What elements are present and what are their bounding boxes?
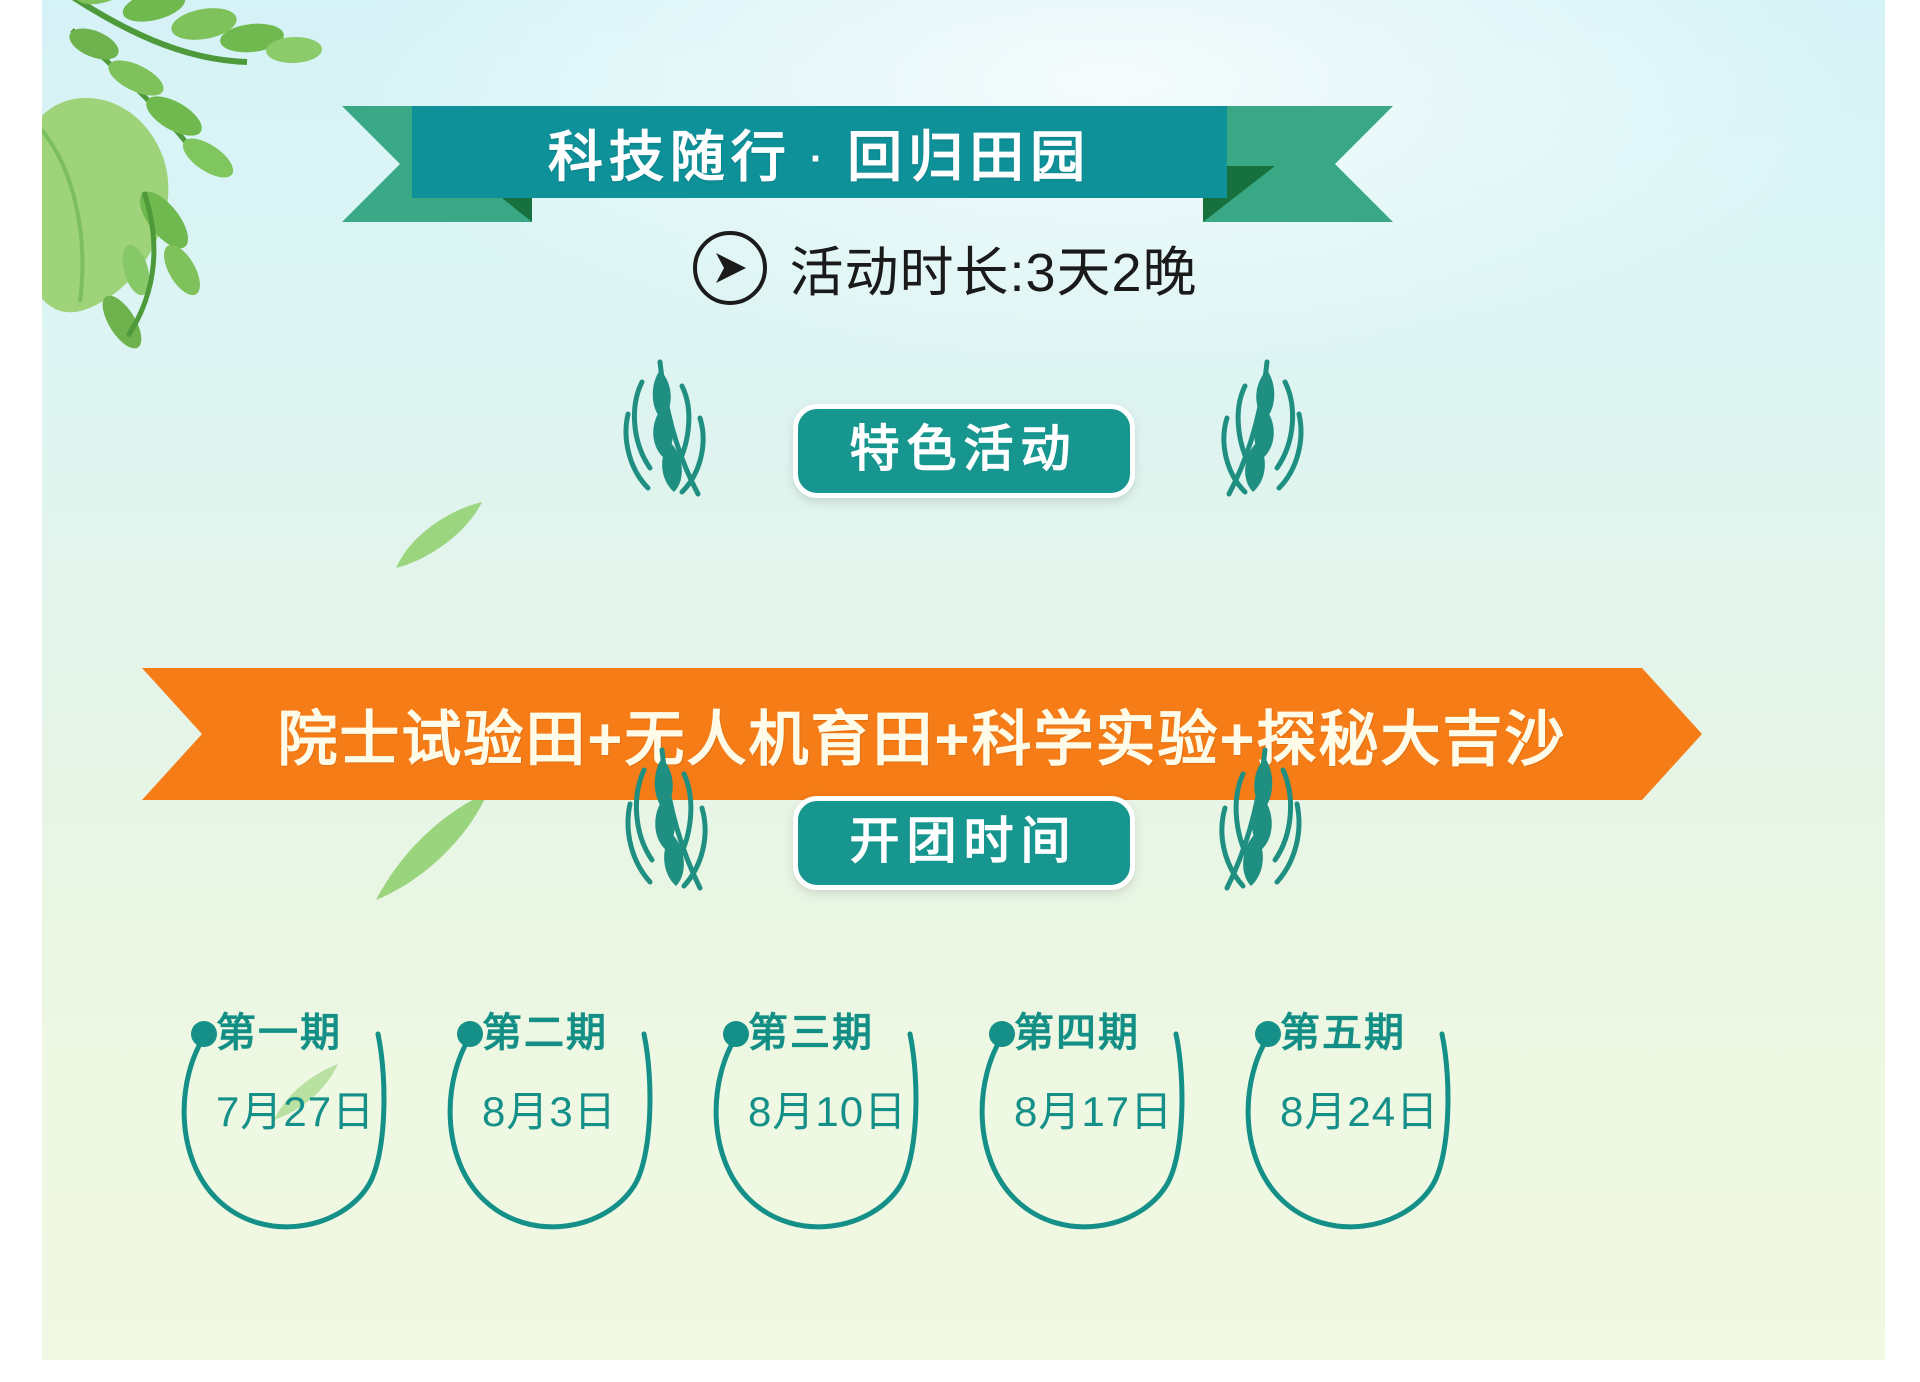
wheat-ear-icon (1177, 356, 1307, 498)
session-date: 8月3日 (482, 1078, 617, 1139)
list-item[interactable]: 第二期 8月3日 (438, 1000, 704, 1240)
feature-badge-label: 特色活动 (850, 423, 1078, 476)
feature-ribbon: 院士试验田+无人机育田+科学实验+探秘大吉沙 (142, 668, 1702, 800)
session-date: 8月24日 (1280, 1078, 1439, 1139)
feature-badge[interactable]: 特色活动 (793, 404, 1135, 499)
session-phase: 第五期 (1280, 1000, 1406, 1058)
feature-badge-row: 特色活动 (42, 398, 1885, 498)
duration-label: 活动时长:3天2晚 (789, 228, 1197, 307)
banner-title: 科技随行·回归田园 (548, 112, 1091, 192)
session-date: 8月10日 (748, 1078, 907, 1139)
poster-canvas: 科技随行·回归田园 活动时长:3天2晚 (42, 0, 1885, 1360)
session-phase: 第一期 (216, 1000, 342, 1058)
title-ribbon: 科技随行·回归田园 (42, 52, 1885, 192)
gutter-left (0, 0, 42, 1382)
list-item[interactable]: 第三期 8月10日 (704, 1000, 970, 1240)
schedule-badge-label: 开团时间 (850, 815, 1078, 868)
list-item[interactable]: 第五期 8月24日 (1236, 1000, 1502, 1240)
session-phase: 第二期 (482, 1000, 608, 1058)
play-arrow-circle-icon (693, 231, 767, 305)
banner-title-separator: · (792, 137, 847, 181)
schedule-badge[interactable]: 开团时间 (793, 796, 1135, 891)
wheat-ear-icon (620, 744, 750, 892)
list-item[interactable]: 第一期 7月27日 (172, 1000, 438, 1240)
schedule-badge-row: 开团时间 (42, 790, 1885, 890)
wheat-ear-icon (1177, 744, 1307, 892)
poster-root: 科技随行·回归田园 活动时长:3天2晚 (0, 0, 1920, 1382)
session-date: 8月17日 (1014, 1078, 1173, 1139)
session-phase: 第四期 (1014, 1000, 1140, 1058)
banner-title-left: 科技随行 (548, 126, 792, 188)
banner-title-right: 回归田园 (847, 126, 1091, 188)
session-phase: 第三期 (748, 1000, 874, 1058)
list-item[interactable]: 第四期 8月17日 (970, 1000, 1236, 1240)
duration-row: 活动时长:3天2晚 (42, 228, 1885, 307)
gutter-right (1885, 0, 1920, 1382)
title-ribbon-band: 科技随行·回归田园 (412, 106, 1227, 198)
gutter-bottom (0, 1360, 1920, 1382)
schedule-list: 第一期 7月27日 第二期 8月3日 第三期 8月10日 (172, 1000, 1772, 1250)
session-date: 7月27日 (216, 1078, 375, 1139)
ribbon-tail-right (1203, 106, 1393, 222)
feature-ribbon-label: 院士试验田+无人机育田+科学实验+探秘大吉沙 (142, 668, 1702, 800)
wheat-ear-icon (620, 356, 750, 498)
leaf-sliver-icon (394, 498, 484, 572)
